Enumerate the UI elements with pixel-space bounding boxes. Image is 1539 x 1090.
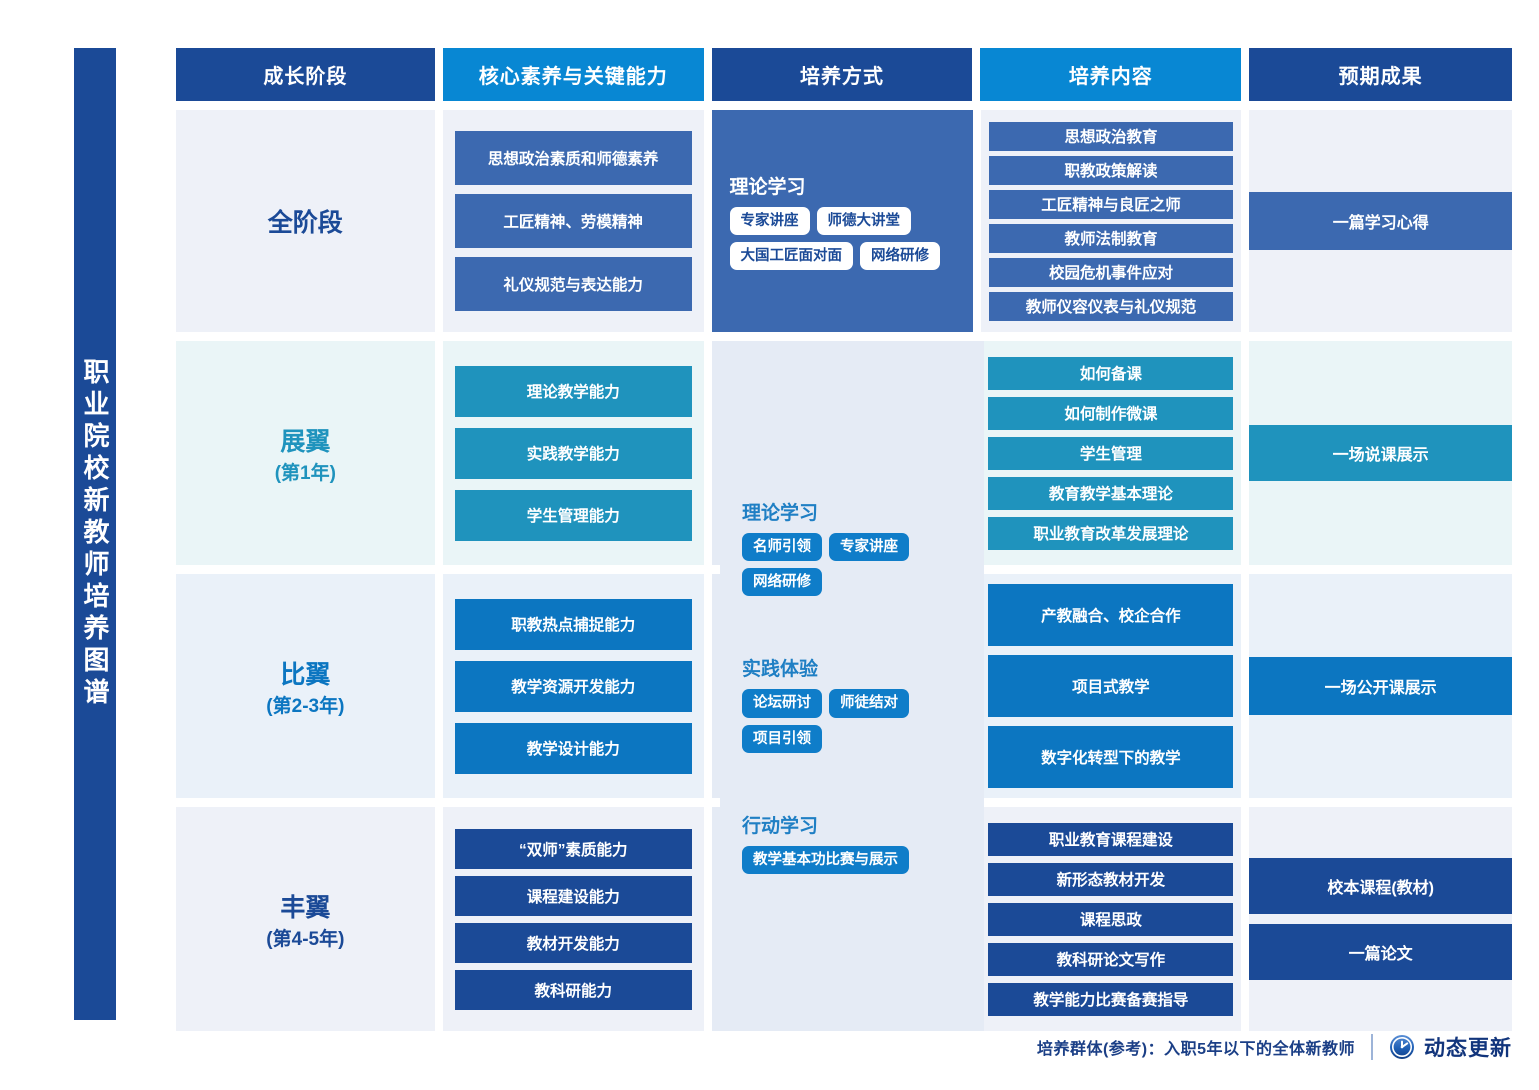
content-cell-4: 职业教育课程建设 新形态教材开发 课程思政 教科研论文写作 教学能力比赛备赛指导	[980, 807, 1241, 1031]
method-group: 理论学习 名师引领 专家讲座 网络研修	[742, 498, 962, 596]
method-pill[interactable]: 师徒结对	[829, 689, 909, 717]
method-cell-1: 理论学习 专家讲座 师德大讲堂 大国工匠面对面 网络研修	[712, 110, 973, 332]
content-chip[interactable]: 教科研论文写作	[988, 943, 1233, 976]
stage-name: 丰翼	[280, 888, 330, 924]
outcome-cell-4: 校本课程(教材) 一篇论文	[1249, 807, 1512, 1031]
content-chip[interactable]: 课程思政	[988, 903, 1233, 936]
dynamic-update-badge[interactable]: 动态更新	[1389, 1032, 1512, 1062]
content-chip[interactable]: 思想政治教育	[989, 122, 1234, 151]
method-pill-list: 教学基本功比赛与展示	[742, 846, 962, 874]
competency-chip[interactable]: 礼仪规范与表达能力	[455, 257, 692, 311]
column-header-stage: 成长阶段	[176, 48, 435, 101]
column-header-content: 培养内容	[980, 48, 1241, 101]
competency-chip[interactable]: 实践教学能力	[455, 428, 692, 479]
method-pill[interactable]: 论坛研讨	[742, 689, 822, 717]
stage-cell-3: 比翼(第2-3年)	[176, 574, 435, 798]
method-group: 实践体验 论坛研讨 师徒结对 项目引领	[742, 654, 962, 752]
outcome-chip[interactable]: 一场说课展示	[1249, 425, 1512, 481]
content-cell-2: 如何备课 如何制作微课 学生管理 教育教学基本理论 职业教育改革发展理论	[980, 341, 1241, 565]
stage-years: (第1年)	[275, 458, 336, 485]
content-chip[interactable]: 教师仪容仪表与礼仪规范	[989, 292, 1234, 321]
competency-chip[interactable]: 理论教学能力	[455, 366, 692, 417]
content-cell-1: 思想政治教育 职教政策解读 工匠精神与良匠之师 教师法制教育 校园危机事件应对 …	[981, 110, 1242, 332]
method-group-title: 实践体验	[742, 654, 962, 681]
content-chip[interactable]: 如何制作微课	[988, 397, 1233, 430]
competency-cell-3: 职教热点捕捉能力 教学资源开发能力 教学设计能力	[443, 574, 704, 798]
dynamic-update-label: 动态更新	[1424, 1032, 1512, 1062]
method-pill-list: 名师引领 专家讲座 网络研修	[742, 533, 962, 596]
competency-cell-4: “双师”素质能力 课程建设能力 教材开发能力 教科研能力	[443, 807, 704, 1031]
stage-cell-4: 丰翼(第4-5年)	[176, 807, 435, 1031]
method-group-title: 理论学习	[730, 172, 955, 199]
content-chip[interactable]: 教育教学基本理论	[988, 477, 1233, 510]
stage-years: (第4-5年)	[266, 924, 344, 951]
footer-divider	[1371, 1034, 1373, 1060]
competency-cell-1: 思想政治素质和师德素养 工匠精神、劳模精神 礼仪规范与表达能力	[443, 110, 704, 332]
column-header-outcome: 预期成果	[1249, 48, 1512, 101]
method-pill[interactable]: 大国工匠面对面	[730, 242, 854, 270]
content-chip[interactable]: 项目式教学	[988, 655, 1233, 717]
infographic-page: 职业院校新教师培养图谱 成长阶段 核心素养与关键能力 培养方式 培养内容 预期成…	[0, 0, 1539, 1090]
competency-chip[interactable]: 教科研能力	[455, 970, 692, 1010]
method-pill[interactable]: 名师引领	[742, 533, 822, 561]
method-pill[interactable]: 网络研修	[860, 242, 940, 270]
competency-chip[interactable]: 学生管理能力	[455, 490, 692, 541]
content-chip[interactable]: 职业教育改革发展理论	[988, 517, 1233, 550]
footer-note: 培养群体(参考)：入职5年以下的全体新教师	[1037, 1035, 1355, 1059]
content-chip[interactable]: 产教融合、校企合作	[988, 584, 1233, 646]
stage-name: 比翼	[280, 655, 330, 691]
competency-chip[interactable]: 课程建设能力	[455, 876, 692, 916]
column-header-method: 培养方式	[712, 48, 973, 101]
page-title: 职业院校新教师培养图谱	[82, 358, 108, 710]
method-group-title: 理论学习	[742, 498, 962, 525]
content-chip[interactable]: 教学能力比赛备赛指导	[988, 983, 1233, 1016]
method-pill[interactable]: 网络研修	[742, 568, 822, 596]
method-pill[interactable]: 项目引领	[742, 725, 822, 753]
content-chip[interactable]: 如何备课	[988, 357, 1233, 390]
column-header-competency: 核心素养与关键能力	[443, 48, 704, 101]
method-pill-list: 专家讲座 师德大讲堂 大国工匠面对面 网络研修	[730, 207, 955, 270]
method-cell-merged: 理论学习 名师引领 专家讲座 网络研修 实践体验 论坛研讨 师徒结对 项目引领	[720, 341, 984, 1031]
content-chip[interactable]: 学生管理	[988, 437, 1233, 470]
stage-cell-1: 全阶段	[176, 110, 435, 332]
outcome-chip[interactable]: 一场公开课展示	[1249, 657, 1512, 715]
outcome-cell-2: 一场说课展示	[1249, 341, 1512, 565]
content-chip[interactable]: 职业教育课程建设	[988, 823, 1233, 856]
matrix-grid: 成长阶段 核心素养与关键能力 培养方式 培养内容 预期成果 全阶段 思想政治素质…	[176, 48, 1512, 1031]
vertical-title-bar: 职业院校新教师培养图谱	[74, 48, 116, 1020]
stage-row-1: 全阶段 思想政治素质和师德素养 工匠精神、劳模精神 礼仪规范与表达能力 理论学习…	[176, 110, 1512, 332]
competency-chip[interactable]: 教材开发能力	[455, 923, 692, 963]
content-chip[interactable]: 新形态教材开发	[988, 863, 1233, 896]
method-pill[interactable]: 师德大讲堂	[817, 207, 912, 235]
footer: 培养群体(参考)：入职5年以下的全体新教师	[1037, 1032, 1512, 1062]
content-chip[interactable]: 校园危机事件应对	[989, 258, 1234, 287]
competency-chip[interactable]: 教学设计能力	[455, 723, 692, 774]
outcome-chip[interactable]: 校本课程(教材)	[1249, 858, 1512, 914]
header-row: 成长阶段 核心素养与关键能力 培养方式 培养内容 预期成果	[176, 48, 1512, 101]
stage-cell-2: 展翼(第1年)	[176, 341, 435, 565]
content-chip[interactable]: 教师法制教育	[989, 224, 1234, 253]
method-pill-list: 论坛研讨 师徒结对 项目引领	[742, 689, 962, 752]
competency-cell-2: 理论教学能力 实践教学能力 学生管理能力	[443, 341, 704, 565]
method-group: 理论学习 专家讲座 师德大讲堂 大国工匠面对面 网络研修	[730, 172, 955, 270]
outcome-chip[interactable]: 一篇学习心得	[1249, 192, 1512, 250]
method-group-title: 行动学习	[742, 811, 962, 838]
outcome-cell-3: 一场公开课展示	[1249, 574, 1512, 798]
outcome-cell-1: 一篇学习心得	[1249, 110, 1512, 332]
content-chip[interactable]: 数字化转型下的教学	[988, 726, 1233, 788]
competency-chip[interactable]: 职教热点捕捉能力	[455, 599, 692, 650]
method-pill[interactable]: 教学基本功比赛与展示	[742, 846, 909, 874]
content-cell-3: 产教融合、校企合作 项目式教学 数字化转型下的教学	[980, 574, 1241, 798]
stage-years: (第2-3年)	[266, 691, 344, 718]
method-group: 行动学习 教学基本功比赛与展示	[742, 811, 962, 874]
stage-name: 展翼	[280, 422, 330, 458]
outcome-chip[interactable]: 一篇论文	[1249, 924, 1512, 980]
method-pill[interactable]: 专家讲座	[829, 533, 909, 561]
competency-chip[interactable]: 思想政治素质和师德素养	[455, 131, 692, 185]
competency-chip[interactable]: 教学资源开发能力	[455, 661, 692, 712]
content-chip[interactable]: 工匠精神与良匠之师	[989, 190, 1234, 219]
clock-update-icon	[1389, 1034, 1415, 1060]
stage-name: 全阶段	[268, 203, 343, 239]
content-chip[interactable]: 职教政策解读	[989, 156, 1234, 185]
competency-chip[interactable]: 工匠精神、劳模精神	[455, 194, 692, 248]
method-pill[interactable]: 专家讲座	[730, 207, 810, 235]
competency-chip[interactable]: “双师”素质能力	[455, 829, 692, 869]
